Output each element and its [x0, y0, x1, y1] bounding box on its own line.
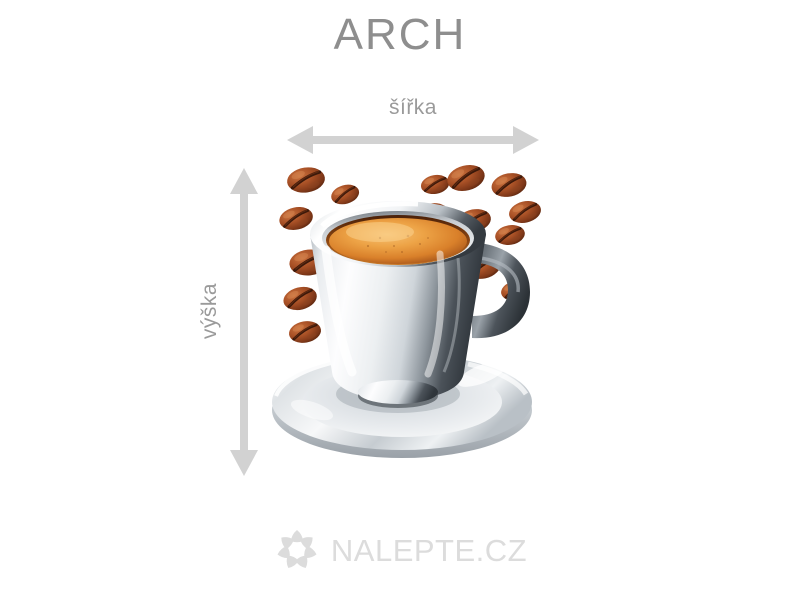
cup-svg	[268, 158, 544, 478]
double-arrow-vertical-icon	[228, 166, 260, 478]
double-arrow-horizontal-icon	[285, 124, 541, 156]
height-dimension-group: výška	[196, 166, 260, 478]
watermark-text: NALEPTE.CZ	[331, 535, 527, 566]
page-title: ARCH	[0, 12, 800, 58]
petal-flower-logo-icon	[273, 528, 321, 572]
width-dimension-group: šířka	[285, 96, 541, 152]
width-label: šířka	[285, 96, 541, 120]
page-canvas: ARCH šířka výška	[0, 0, 800, 600]
watermark: NALEPTE.CZ	[0, 528, 800, 572]
espresso-cup-illustration	[268, 158, 544, 478]
cup-body-group	[310, 201, 486, 408]
height-label: výška	[198, 211, 222, 411]
